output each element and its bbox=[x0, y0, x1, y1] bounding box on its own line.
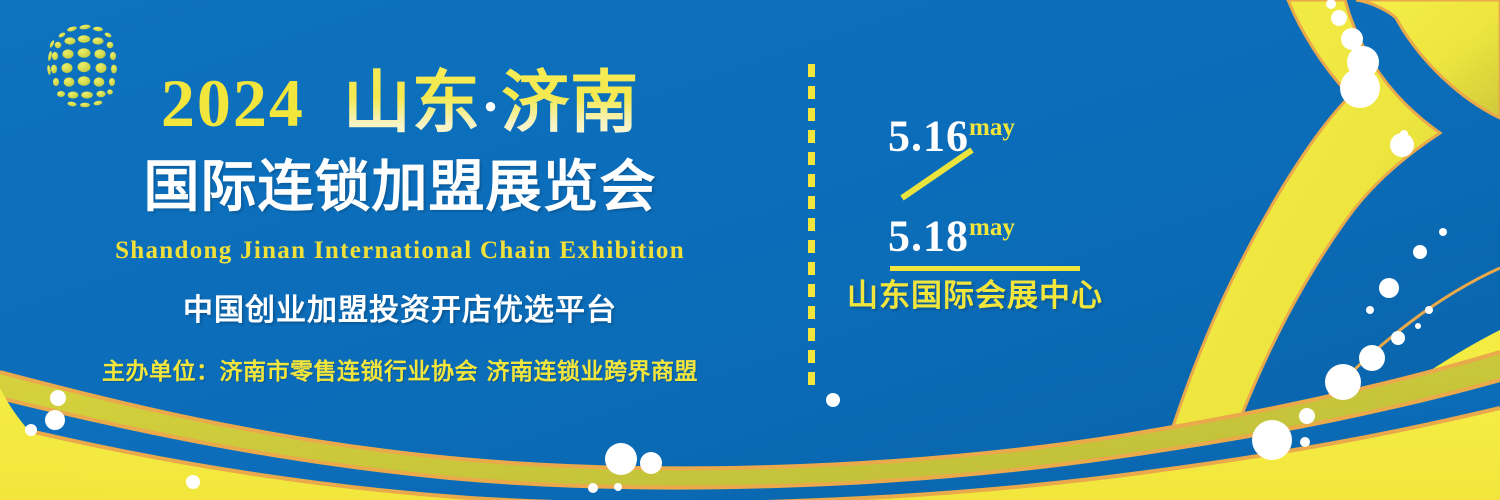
vertical-dashed-divider bbox=[808, 64, 815, 392]
exhibition-banner: 2024 山东·济南 国际连锁加盟展览会 Shandong Jinan Inte… bbox=[0, 0, 1500, 500]
title-city: 济南 bbox=[501, 63, 639, 143]
end-date-number: 5.18 bbox=[888, 212, 969, 261]
title-year: 2024 bbox=[161, 65, 305, 141]
tagline: 中国创业加盟投资开店优选平台 bbox=[0, 294, 800, 328]
event-date-block: 5.16may 5.18may 山东国际会展中心 bbox=[840, 90, 1140, 330]
date-range-slash-icon bbox=[898, 146, 976, 202]
end-date: 5.18may bbox=[888, 204, 1015, 261]
title-separator: · bbox=[481, 74, 501, 139]
title-line-year-location: 2024 山东·济南 bbox=[0, 66, 800, 144]
title-province: 山东 bbox=[343, 63, 481, 143]
start-date-month: may bbox=[969, 114, 1015, 141]
organizer-line: 主办单位：济南市零售连锁行业协会 济南连锁业跨界商盟 bbox=[0, 358, 800, 386]
venue-name: 山东国际会展中心 bbox=[840, 278, 1110, 314]
end-date-month: may bbox=[969, 214, 1015, 241]
title-subtitle-cn: 国际连锁加盟展览会 bbox=[0, 157, 800, 217]
title-subtitle-en: Shandong Jinan International Chain Exhib… bbox=[0, 236, 800, 266]
headline-block: 2024 山东·济南 国际连锁加盟展览会 Shandong Jinan Inte… bbox=[0, 0, 800, 500]
venue-rule bbox=[890, 266, 1080, 271]
